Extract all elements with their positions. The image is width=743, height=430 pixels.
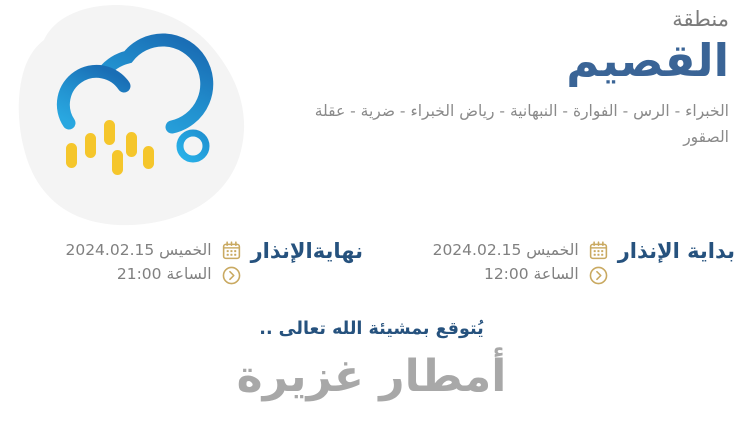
- raindrop: [112, 150, 123, 175]
- alert-end-date: الخميس 2024.02.15: [65, 241, 211, 260]
- region-heading-block: منطقة القصيم الخبراء - الرس - الفوارة - …: [309, 6, 729, 150]
- alert-end-time: الساعة 21:00: [117, 265, 212, 284]
- weather-alert-card: منطقة القصيم الخبراء - الرس - الفوارة - …: [0, 0, 743, 430]
- raindrop: [126, 132, 137, 157]
- alert-end-icons: [221, 238, 242, 286]
- raindrop: [85, 133, 96, 158]
- clock-chevron-icon: [588, 265, 609, 286]
- forecast-preamble: يُتوقع بمشيئة الله تعالى ..: [0, 318, 743, 341]
- alert-end-title: نهايةالإنذار: [251, 238, 363, 264]
- calendar-icon: [221, 240, 242, 261]
- alert-start-values: الخميس 2024.02.15 الساعة 12:00: [433, 238, 579, 283]
- heavy-rain-cloud-icon: [0, 0, 300, 232]
- alert-end-block: نهايةالإنذار: [8, 238, 363, 310]
- clock-chevron-icon: [221, 265, 242, 286]
- alert-start-time: الساعة 12:00: [484, 265, 579, 284]
- region-name-title: القصيم: [309, 35, 729, 87]
- raindrop: [143, 146, 154, 169]
- icon-background-blob: [19, 5, 244, 225]
- forecast-headline: أمطار غزيرة: [0, 351, 743, 404]
- weather-icon-area: [0, 0, 300, 232]
- alert-start-block: بداية الإنذار: [375, 238, 735, 310]
- alert-start-date: الخميس 2024.02.15: [433, 241, 579, 260]
- raindrop: [66, 143, 77, 168]
- alert-end-head: نهايةالإنذار: [8, 238, 363, 286]
- alert-timing-row: بداية الإنذار: [0, 238, 743, 310]
- raindrop: [104, 120, 115, 145]
- region-kicker-label: منطقة: [309, 6, 729, 33]
- forecast-block: يُتوقع بمشيئة الله تعالى .. أمطار غزيرة: [0, 318, 743, 404]
- alert-end-values: الخميس 2024.02.15 الساعة 21:00: [65, 238, 211, 283]
- calendar-icon: [588, 240, 609, 261]
- alert-start-title: بداية الإنذار: [618, 238, 735, 264]
- alert-start-icons: [588, 238, 609, 286]
- alert-start-head: بداية الإنذار: [375, 238, 735, 286]
- region-cities-list: الخبراء - الرس - الفوارة - النبهانية - ر…: [309, 99, 729, 149]
